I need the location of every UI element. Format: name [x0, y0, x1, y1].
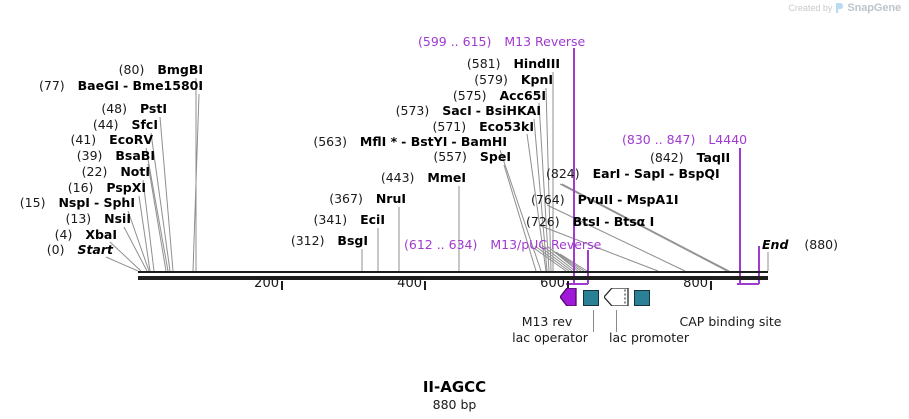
enzyme-label-ecorv: (41) EcoRV — [0, 132, 153, 147]
enzyme-position: (22) — [82, 164, 108, 179]
start-name: Start — [77, 242, 113, 257]
primer-label-m13-reverse: (599 .. 615) M13 Reverse — [418, 34, 585, 49]
enzyme-name: BspQI — [679, 166, 720, 181]
enzyme-name: EciI — [360, 212, 385, 227]
axis-label-800: 800 — [640, 276, 708, 291]
enzyme-position: (4) — [55, 227, 73, 242]
feature-glyph-cap-binding-site[interactable] — [634, 290, 650, 306]
enzyme-position: (563) — [313, 134, 347, 149]
enzyme-label-ecii: (341) EciI — [200, 212, 385, 227]
enzyme-position: (312) — [291, 233, 325, 248]
enzyme-name: BtsI — [573, 214, 601, 229]
enzyme-label-btsi-btsai: (726) BtsI - Btsα I — [526, 214, 654, 229]
enzyme-position: (581) — [467, 56, 501, 71]
enzyme-name: TaqII — [697, 150, 731, 165]
enzyme-name: BaeGI — [78, 78, 119, 93]
snapgene-watermark: Created by SnapGene — [788, 2, 901, 14]
primer-range: (612 .. 634) — [404, 237, 477, 252]
enzyme-position: (573) — [396, 103, 430, 118]
axis-tick-400 — [424, 281, 426, 290]
enzyme-position: (824) — [546, 166, 580, 181]
enzyme-label-eco53ki: (571) Eco53kI — [300, 119, 534, 134]
axis-label-200: 200 — [211, 276, 279, 291]
enzyme-name: SpeI — [480, 149, 511, 164]
enzyme-name: PvuII — [578, 192, 614, 207]
axis-tick-800 — [710, 281, 712, 290]
enzyme-label-kpni: (579) KpnI — [300, 72, 553, 87]
enzyme-label-bsabi: (39) BsaBI — [0, 148, 155, 163]
primer-name: M13/pUC Reverse — [490, 237, 601, 252]
enzyme-position: (842) — [650, 150, 684, 165]
enzyme-name: NsiI — [104, 211, 131, 226]
enzyme-name: BmgBI — [157, 62, 203, 77]
enzyme-name: PspXI — [106, 180, 146, 195]
enzyme-position: (726) — [526, 214, 560, 229]
snapgene-logo-icon — [835, 2, 844, 14]
end-name: End — [762, 237, 788, 252]
page-subtitle: 880 bp — [0, 397, 909, 412]
enzyme-label-mfli-bstyi-bamhi: (563) MflI * - BstYI - BamHI — [240, 134, 507, 149]
enzyme-position: (13) — [66, 211, 92, 226]
enzyme-label-baegi-bme1580i: (77) BaeGI - Bme1580I — [0, 78, 203, 93]
watermark-brand: SnapGene — [847, 2, 901, 14]
enzyme-label-xbai: (4) XbaI — [0, 227, 117, 242]
watermark-prefix: Created by — [788, 3, 832, 13]
enzyme-name: SphI — [103, 195, 135, 210]
axis-tick-200 — [281, 281, 283, 290]
enzyme-position: (44) — [93, 117, 119, 132]
feature-glyph-m13-rev[interactable] — [560, 288, 577, 310]
enzyme-name: SacI — [442, 103, 472, 118]
enzyme-name: MmeI — [427, 170, 466, 185]
enzyme-position: (341) — [314, 212, 348, 227]
primer-name: M13 Reverse — [504, 34, 585, 49]
snapgene-sequence-map: Created by SnapGene — [0, 0, 909, 419]
enzyme-position: (16) — [68, 180, 94, 195]
enzyme-position: (443) — [381, 170, 415, 185]
enzyme-name: EarI — [593, 166, 621, 181]
enzyme-name: BsgI — [337, 233, 368, 248]
enzyme-name: BstYI — [411, 134, 448, 149]
enzyme-label-taqii: (842) TaqII — [650, 150, 730, 165]
enzyme-position: (579) — [474, 72, 508, 87]
primer-label-m13puc-reverse: (612 .. 634) M13/pUC Reverse — [404, 237, 601, 252]
primer-bracket-l4440 — [737, 283, 759, 285]
primer-name: L4440 — [708, 132, 747, 147]
enzyme-position: (571) — [433, 119, 467, 134]
enzyme-name: Acc65I — [499, 88, 546, 103]
enzyme-position: (80) — [119, 62, 145, 77]
sequence-start-label: (0) Start — [0, 242, 113, 257]
page-title: II-AGCC — [0, 378, 909, 396]
enzyme-position: (41) — [71, 132, 97, 147]
enzyme-name: SapI — [634, 166, 665, 181]
enzyme-name: PstI — [140, 101, 167, 116]
enzyme-label-bmgbi: (80) BmgBI — [0, 62, 203, 77]
enzyme-label-noti: (22) NotI — [0, 164, 150, 179]
enzyme-position: (764) — [531, 192, 565, 207]
enzyme-name: XbaI — [85, 227, 117, 242]
enzyme-position: (575) — [453, 88, 487, 103]
axis-label-600: 600 — [497, 276, 565, 291]
enzyme-name: SfcI — [131, 117, 158, 132]
primer-bracket-m13 — [566, 283, 588, 285]
feature-label-lac-operator: lac operator — [490, 330, 610, 345]
enzyme-name: Bme1580I — [133, 78, 203, 93]
enzyme-label-sfci: (44) SfcI — [0, 117, 158, 132]
enzyme-name: BsaBI — [115, 148, 155, 163]
primer-label-l4440: (830 .. 847) L4440 — [622, 132, 747, 147]
enzyme-position: (557) — [433, 149, 467, 164]
sequence-end-label: End (880) — [762, 237, 838, 252]
enzyme-position: (48) — [101, 101, 127, 116]
enzyme-name: MflI * — [360, 134, 397, 149]
enzyme-label-bsgi: (312) BsgI — [180, 233, 368, 248]
enzyme-name: BsiHKAI — [485, 103, 541, 118]
feature-glyph-lac-operator[interactable] — [583, 290, 599, 306]
feature-glyph-lac-promoter[interactable] — [604, 288, 629, 310]
enzyme-name: MspA1I — [627, 192, 679, 207]
feature-label-lac-promoter: lac promoter — [594, 330, 704, 345]
enzyme-label-psti: (48) PstI — [0, 101, 167, 116]
enzyme-position: (77) — [39, 78, 65, 93]
enzyme-label-mmei: (443) MmeI — [250, 170, 466, 185]
primer-range: (599 .. 615) — [418, 34, 491, 49]
enzyme-label-spei: (557) SpeI — [300, 149, 511, 164]
primer-line-l4440 — [739, 148, 741, 284]
enzyme-label-pspxi: (16) PspXI — [0, 180, 146, 195]
enzyme-name: NruI — [376, 191, 406, 206]
end-position: (880) — [804, 237, 838, 252]
enzyme-name: KpnI — [521, 72, 553, 87]
enzyme-label-hindiii: (581) HindIII — [300, 56, 560, 71]
enzyme-position: (367) — [329, 191, 363, 206]
ruler-line — [138, 271, 768, 273]
enzyme-name: BamHI — [461, 134, 507, 149]
enzyme-position: (15) — [20, 195, 46, 210]
enzyme-label-nspi-sphi: (15) NspI - SphI — [0, 195, 135, 210]
enzyme-label-nrui: (367) NruI — [220, 191, 406, 206]
axis-label-400: 400 — [354, 276, 422, 291]
start-position: (0) — [47, 242, 65, 257]
enzyme-position: (39) — [77, 148, 103, 163]
enzyme-label-pvuii-mspa1i: (764) PvuII - MspA1I — [531, 192, 679, 207]
enzyme-label-saci-bsihkai: (573) SacI - BsiHKAI — [300, 103, 541, 118]
enzyme-name: Btsα I — [614, 214, 655, 229]
enzyme-name: HindIII — [513, 56, 560, 71]
enzyme-label-nsii: (13) NsiI — [0, 211, 131, 226]
enzyme-name: NspI — [58, 195, 90, 210]
enzyme-name: EcoRV — [109, 132, 153, 147]
enzyme-name: Eco53kI — [479, 119, 534, 134]
enzyme-label-eari-sapi-bspqi: (824) EarI - SapI - BspQI — [546, 166, 720, 181]
primer-range: (830 .. 847) — [622, 132, 695, 147]
enzyme-name: NotI — [120, 164, 150, 179]
enzyme-label-acc65i: (575) Acc65I — [300, 88, 546, 103]
feature-label-cap-binding-site: CAP binding site — [573, 314, 888, 329]
